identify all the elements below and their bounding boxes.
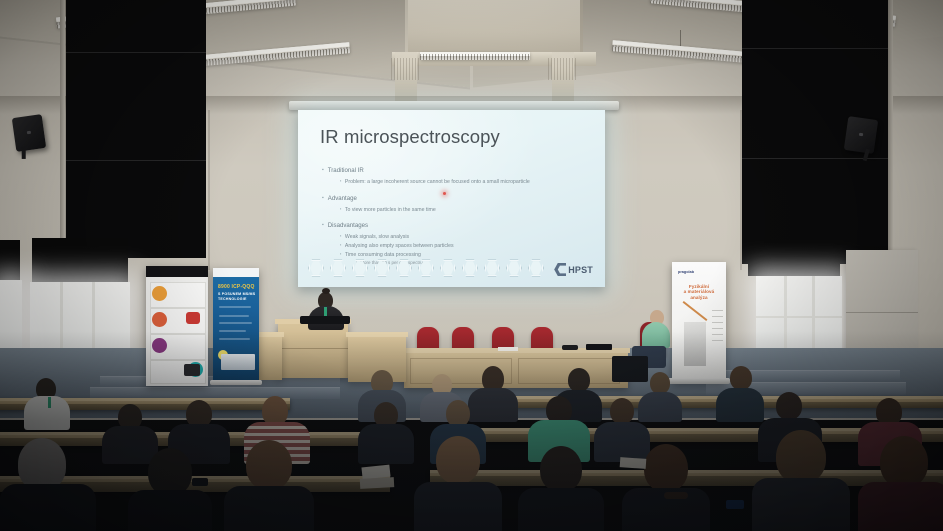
poster-accent-red (152, 312, 167, 327)
agilent-headline: 8900 ICP-QQQ (218, 284, 255, 290)
presenter-hair-bun (322, 288, 330, 294)
agilent-instrument-image (221, 354, 255, 370)
table-papers (498, 347, 518, 351)
curtain-edge-right (888, 0, 893, 262)
hpst-logo-text: HPST (568, 265, 593, 275)
desk-phone-2 (726, 500, 744, 509)
stage-equipment-cart (612, 356, 648, 382)
slide-hexagon-3 (352, 259, 368, 277)
slide-footer-logo: HPST (554, 263, 593, 276)
slide-bullet-weak-signals: Weak signals, slow analysis (340, 233, 409, 240)
desk-notebook (360, 477, 394, 489)
wall-pilaster-mid-left (208, 110, 210, 270)
slide-hexagon-2 (330, 259, 346, 277)
pragolab-rollup-base (668, 378, 730, 384)
slide-hexagon-11 (528, 259, 544, 277)
hpst-mark-icon (554, 263, 566, 276)
desk-papers-2 (620, 457, 647, 469)
curtain-edge-left (60, 0, 65, 262)
projection-screen: IR microspectroscopy Traditional IR Prob… (298, 110, 605, 287)
laser-pointer-dot (443, 192, 446, 195)
wall-speaker-left (12, 114, 46, 152)
slide-hexagon-7 (440, 259, 456, 277)
blackout-curtain-left (66, 0, 206, 258)
slide-bullet-disadvantages: Disadvantages (322, 222, 368, 229)
slide-bullet-traditional-ir: Traditional IR (322, 167, 364, 174)
ceiling-beam-box (405, 0, 583, 56)
presenter-laptop (300, 316, 350, 324)
panelist-torso (642, 322, 670, 348)
poster-accent-red-2 (186, 312, 200, 324)
slide-hexagon-5 (396, 259, 412, 277)
lanyard-green (48, 397, 51, 408)
agilent-subhead: S POSUNEM MS/MS TECHNOLOGIE (218, 292, 256, 301)
wall-speaker-right (844, 116, 878, 154)
slide-title: IR microspectroscopy (320, 126, 500, 148)
pragolab-diagonal-accent (683, 301, 708, 321)
pragolab-rollup-banner: pragolab Fyzikálnía materiálováanalýza (672, 262, 726, 382)
slide-hexagon-9 (484, 259, 500, 277)
slide-bullet-view-more-particles: To view more particles in the same time (340, 206, 436, 213)
pragolab-instrument-image (684, 322, 706, 366)
poster-accent-dark (184, 364, 200, 376)
desk-phone-1 (192, 478, 208, 486)
poster-header-bar (146, 266, 208, 277)
window-blind-right[interactable] (748, 240, 840, 276)
window-blind-far-left[interactable] (0, 240, 20, 280)
slide-hexagon-6 (418, 259, 434, 277)
poster-accent-purple (152, 338, 167, 353)
poster-accent-orange (152, 286, 167, 301)
table-microphone (562, 345, 578, 350)
agilent-rollup-banner: 8900 ICP-QQQ S POSUNEM MS/MS TECHNOLOGIE (213, 268, 259, 380)
desk-glasses (664, 492, 688, 499)
wall-partition-seam (846, 312, 918, 313)
table-laptop (586, 344, 612, 350)
slide-bullet-time-consuming: Time consuming data processing (340, 251, 421, 258)
slide-hexagon-10 (506, 259, 522, 277)
slide-bullet-problem: Problem: a large incoherent source canno… (340, 178, 530, 185)
agilent-brand-strip (213, 268, 259, 277)
slide-hexagon-1 (308, 259, 324, 277)
pragolab-logo-text: pragolab (678, 270, 694, 274)
window-blind-left[interactable] (32, 238, 128, 282)
poster-board-banner (146, 266, 208, 386)
slide-hexagon-8 (462, 259, 478, 277)
lecture-hall-screenshot: IR microspectroscopy Traditional IR Prob… (0, 0, 943, 531)
slide-bullet-empty-spaces: Analysing also empty spaces between part… (340, 242, 454, 249)
slide-hexagon-4 (374, 259, 390, 277)
pragolab-headline: Fyzikálnía materiálováanalýza (672, 284, 726, 300)
agilent-rollup-base (210, 380, 262, 385)
slide-bullet-advantage: Advantage (322, 195, 357, 202)
projector-screen-housing (289, 101, 619, 110)
presenter-podium (278, 322, 348, 378)
pendant-lamp-center (420, 52, 530, 60)
